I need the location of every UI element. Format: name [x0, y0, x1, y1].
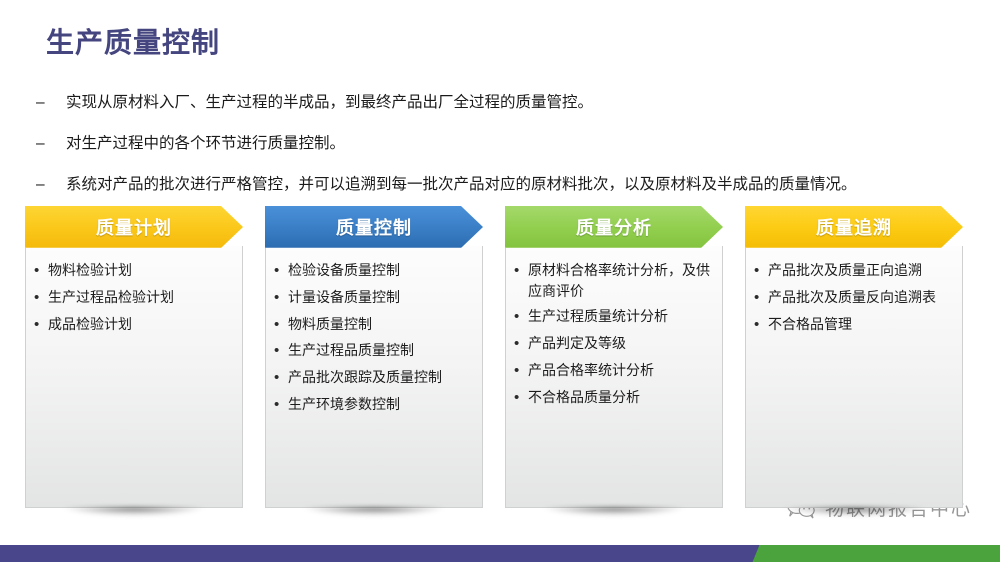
bullet-dot-icon: •: [754, 260, 768, 282]
list-item-label: 产品合格率统计分析: [528, 360, 716, 381]
list-item: – 系统对产品的批次进行严格管控，并可以追溯到每一批次产品对应的原材料批次，以及…: [32, 175, 972, 196]
column-item-list: •产品批次及质量正向追溯 •产品批次及质量反向追溯表 •不合格品管理: [754, 260, 956, 335]
list-item-label: 生产过程质量统计分析: [528, 306, 716, 327]
list-item-label: 物料检验计划: [48, 260, 236, 281]
list-item: •产品合格率统计分析: [514, 360, 716, 382]
list-item-label: 生产环境参数控制: [288, 394, 476, 415]
column-body-quality-plan: •物料检验计划 •生产过程品检验计划 •成品检验计划: [25, 246, 243, 508]
bullet-dot-icon: •: [34, 287, 48, 309]
dash-marker-icon: –: [32, 134, 66, 155]
column-header-quality-traceability[interactable]: 质量追溯: [745, 206, 963, 248]
list-item-label: 生产过程品检验计划: [48, 287, 236, 308]
bullet-dot-icon: •: [274, 394, 288, 416]
list-item-label: 不合格品质量分析: [528, 387, 716, 408]
list-item: •计量设备质量控制: [274, 287, 476, 309]
list-item: •原材料合格率统计分析，及供应商评价: [514, 260, 716, 301]
dash-marker-icon: –: [32, 175, 66, 196]
column-quality-plan: 质量计划 •物料检验计划 •生产过程品检验计划 •成品检验计划: [25, 206, 243, 508]
list-item-label: 物料质量控制: [288, 314, 476, 335]
list-item: •不合格品管理: [754, 314, 956, 336]
bullet-dot-icon: •: [514, 360, 528, 382]
bullet-dot-icon: •: [514, 387, 528, 409]
list-item: •生产过程质量统计分析: [514, 306, 716, 328]
column-item-list: •原材料合格率统计分析，及供应商评价 •生产过程质量统计分析 •产品判定及等级 …: [514, 260, 716, 408]
list-item: – 实现从原材料入厂、生产过程的半成品，到最终产品出厂全过程的质量管控。: [32, 93, 972, 114]
bullet-dot-icon: •: [274, 287, 288, 309]
list-item: – 对生产过程中的各个环节进行质量控制。: [32, 134, 972, 155]
footer-bar-right: [765, 545, 1000, 562]
bullet-dot-icon: •: [754, 314, 768, 336]
footer-bar-left: [0, 545, 766, 562]
list-item: •生产环境参数控制: [274, 394, 476, 416]
column-header-quality-control[interactable]: 质量控制: [265, 206, 483, 248]
bullet-dot-icon: •: [514, 333, 528, 355]
column-item-list: •物料检验计划 •生产过程品检验计划 •成品检验计划: [34, 260, 236, 335]
list-item: •成品检验计划: [34, 314, 236, 336]
column-header-quality-plan[interactable]: 质量计划: [25, 206, 243, 248]
list-item-label: 检验设备质量控制: [288, 260, 476, 281]
list-item: •物料质量控制: [274, 314, 476, 336]
column-header-quality-analysis[interactable]: 质量分析: [505, 206, 723, 248]
list-item-label: 产品批次及质量反向追溯表: [768, 287, 956, 308]
intro-bullet-text: 实现从原材料入厂、生产过程的半成品，到最终产品出厂全过程的质量管控。: [66, 93, 972, 114]
column-quality-traceability: 质量追溯 •产品批次及质量正向追溯 •产品批次及质量反向追溯表 •不合格品管理: [745, 206, 963, 508]
list-item-label: 产品批次跟踪及质量控制: [288, 367, 476, 388]
bullet-dot-icon: •: [34, 260, 48, 282]
list-item-label: 产品判定及等级: [528, 333, 716, 354]
column-body-quality-control: •检验设备质量控制 •计量设备质量控制 •物料质量控制 •生产过程品质量控制 •…: [265, 246, 483, 508]
bullet-dot-icon: •: [34, 314, 48, 336]
bullet-dot-icon: •: [514, 260, 528, 282]
list-item-label: 成品检验计划: [48, 314, 236, 335]
intro-bullet-list: – 实现从原材料入厂、生产过程的半成品，到最终产品出厂全过程的质量管控。 – 对…: [32, 93, 972, 216]
bullet-dot-icon: •: [274, 260, 288, 282]
dash-marker-icon: –: [32, 93, 66, 114]
page-title: 生产质量控制: [46, 21, 220, 61]
quality-process-columns: 质量计划 •物料检验计划 •生产过程品检验计划 •成品检验计划 质量控制 •检验…: [25, 206, 975, 508]
bullet-dot-icon: •: [274, 367, 288, 389]
bullet-dot-icon: •: [514, 306, 528, 328]
list-item: •产品批次及质量正向追溯: [754, 260, 956, 282]
column-quality-control: 质量控制 •检验设备质量控制 •计量设备质量控制 •物料质量控制 •生产过程品质…: [265, 206, 483, 508]
list-item: •不合格品质量分析: [514, 387, 716, 409]
list-item: •检验设备质量控制: [274, 260, 476, 282]
list-item: •产品判定及等级: [514, 333, 716, 355]
list-item-label: 计量设备质量控制: [288, 287, 476, 308]
intro-bullet-text: 对生产过程中的各个环节进行质量控制。: [66, 134, 972, 155]
bullet-dot-icon: •: [754, 287, 768, 309]
intro-bullet-text: 系统对产品的批次进行严格管控，并可以追溯到每一批次产品对应的原材料批次，以及原材…: [66, 175, 972, 196]
bullet-dot-icon: •: [274, 340, 288, 362]
column-body-quality-traceability: •产品批次及质量正向追溯 •产品批次及质量反向追溯表 •不合格品管理: [745, 246, 963, 508]
bullet-dot-icon: •: [274, 314, 288, 336]
list-item-label: 生产过程品质量控制: [288, 340, 476, 361]
column-body-quality-analysis: •原材料合格率统计分析，及供应商评价 •生产过程质量统计分析 •产品判定及等级 …: [505, 246, 723, 508]
list-item: •产品批次跟踪及质量控制: [274, 367, 476, 389]
list-item-label: 产品批次及质量正向追溯: [768, 260, 956, 281]
column-quality-analysis: 质量分析 •原材料合格率统计分析，及供应商评价 •生产过程质量统计分析 •产品判…: [505, 206, 723, 508]
column-item-list: •检验设备质量控制 •计量设备质量控制 •物料质量控制 •生产过程品质量控制 •…: [274, 260, 476, 416]
list-item: •生产过程品检验计划: [34, 287, 236, 309]
list-item-label: 不合格品管理: [768, 314, 956, 335]
list-item: •产品批次及质量反向追溯表: [754, 287, 956, 309]
list-item: •生产过程品质量控制: [274, 340, 476, 362]
list-item-label: 原材料合格率统计分析，及供应商评价: [528, 260, 716, 301]
list-item: •物料检验计划: [34, 260, 236, 282]
